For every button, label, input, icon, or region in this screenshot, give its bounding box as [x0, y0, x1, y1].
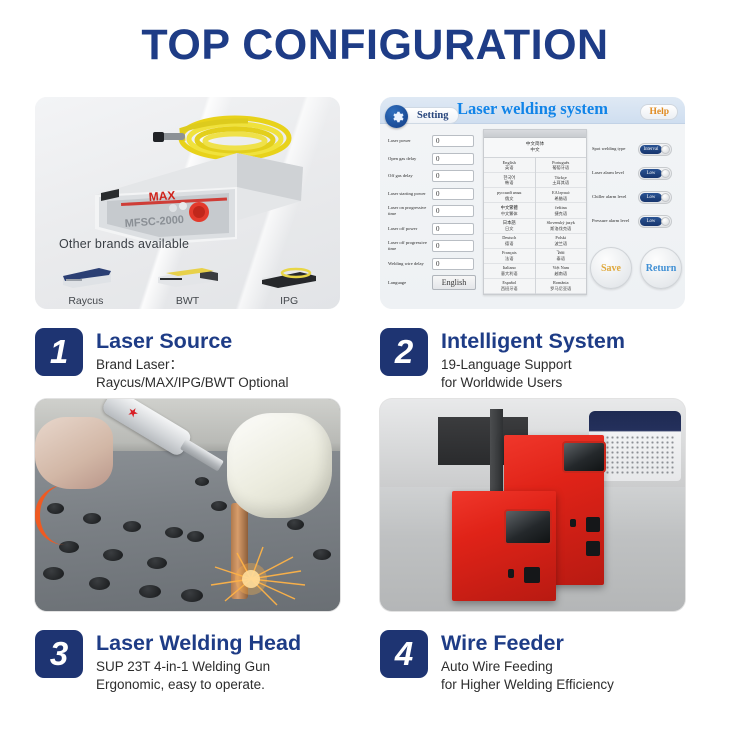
brand-item-raycus: Raycus	[35, 260, 137, 307]
cell-caption-4: 4 Wire Feeder Auto Wire Feeding for High…	[375, 611, 750, 694]
caption-intelligent-system: 2 Intelligent System 19-Language Support…	[380, 316, 720, 392]
photo-scene	[380, 399, 685, 611]
cell-intelligent-system: Laser welding system Setting Help Laser …	[375, 90, 750, 309]
language-cn: 西班牙语	[484, 286, 535, 291]
feeder-switch	[508, 569, 514, 578]
field-input[interactable]: 0	[432, 188, 474, 200]
field-input[interactable]: 0	[432, 205, 474, 217]
language-item[interactable]: Việt Nam越南语	[536, 264, 587, 279]
toggle-knob	[661, 193, 670, 202]
toggle-switch[interactable]: Low	[638, 191, 672, 204]
gear-icon[interactable]	[385, 105, 408, 128]
configuration-grid: MAX MFSC-2000 Other brands available	[0, 90, 750, 693]
toggle-switch[interactable]: Interval	[638, 143, 672, 156]
toggle-label: Laser alarm level	[592, 170, 638, 176]
toggle-label: Spot welding type	[592, 146, 638, 152]
language-cn: 韩语	[484, 180, 535, 185]
language-item[interactable]: Français法语	[484, 249, 535, 264]
field-label: Laser power	[388, 138, 432, 144]
language-cn: 泰语	[536, 256, 587, 261]
brand-label: IPG	[238, 295, 340, 307]
raycus-device-icon	[35, 260, 137, 290]
brand-item-bwt: BWT	[137, 260, 239, 307]
caption-line: Ergonomic, easy to operate.	[96, 676, 301, 694]
background-post	[490, 409, 503, 504]
field-input[interactable]: 0	[432, 223, 474, 235]
field-input[interactable]: 0	[432, 240, 474, 252]
language-select[interactable]: English	[432, 275, 476, 290]
caption-line: 19-Language Support	[441, 356, 625, 374]
field-label: Laser starting power	[388, 191, 432, 197]
feeder-screen	[562, 441, 606, 473]
help-button[interactable]: Help	[640, 104, 678, 120]
language-cn: 中文繁体	[484, 211, 535, 216]
toggle-switch[interactable]: Low	[638, 215, 672, 228]
cell-caption-1: 1 Laser Source Brand Laser： Raycus/MAX/I…	[0, 309, 375, 392]
language-grid: English英语 한국어韩语 русский язык俄文 中文繁體中文繁体 …	[484, 158, 586, 293]
field-input[interactable]: 0	[432, 258, 474, 270]
field-label: Laser off progressive time	[388, 240, 432, 251]
language-item[interactable]: ไทย泰语	[536, 249, 587, 264]
language-item[interactable]: 中文繁體中文繁体	[484, 203, 535, 218]
toggle-knob	[661, 217, 670, 226]
cell-caption-2: 2 Intelligent System 19-Language Support…	[375, 309, 750, 392]
caption-number-badge: 4	[380, 630, 428, 678]
feeder-port	[586, 517, 600, 532]
toggle-knob	[661, 145, 670, 154]
caption-line: Raycus/MAX/IPG/BWT Optional	[96, 374, 289, 392]
feeder-port	[524, 567, 540, 583]
brand-item-ipg: IPG	[238, 260, 340, 307]
language-item[interactable]: English英语	[484, 158, 535, 173]
ipg-device-icon	[238, 260, 340, 290]
caption-title: Laser Source	[96, 329, 289, 353]
save-button[interactable]: Save	[590, 247, 632, 289]
caption-number-badge: 1	[35, 328, 83, 376]
toggle-knob	[661, 169, 670, 178]
language-cn: 中文	[484, 147, 586, 153]
language-cn: 波兰语	[536, 241, 587, 246]
caption-line: Brand Laser：	[96, 356, 289, 374]
weld-sparks	[185, 527, 325, 607]
field-label: Laser on progressive time	[388, 205, 432, 216]
language-cn: 德语	[484, 241, 535, 246]
language-cn: 意大利语	[484, 271, 535, 276]
cell-caption-3: 3 Laser Welding Head SUP 23T 4-in-1 Weld…	[0, 611, 375, 694]
caption-line: Auto Wire Feeding	[441, 658, 614, 676]
language-item[interactable]: čeština捷克语	[536, 203, 587, 218]
language-column-left: English英语 한국어韩语 русский язык俄文 中文繁體中文繁体 …	[484, 158, 536, 293]
laser-welding-head-photo	[35, 399, 340, 611]
svg-text:MAX: MAX	[148, 188, 176, 204]
field-label: Welding wire delay	[388, 261, 432, 267]
language-column-right: Português葡萄牙语 Türkçe土耳其语 ΕΛληνικά希腊语 češ…	[536, 158, 587, 293]
field-row: Welding wire delay 0	[388, 256, 482, 272]
field-input[interactable]: 0	[432, 135, 474, 147]
caption-wire-feeder: 4 Wire Feeder Auto Wire Feeding for High…	[380, 618, 720, 694]
wire-feeder-photo	[380, 399, 685, 611]
feeder-switch	[570, 519, 576, 527]
return-button[interactable]: Return	[640, 247, 682, 289]
brand-list: Raycus BWT	[35, 260, 340, 307]
language-item[interactable]: România罗马尼亚语	[536, 279, 587, 294]
field-row: Laser starting power 0	[388, 186, 482, 202]
language-table-header	[484, 130, 586, 138]
caption-text: Laser Welding Head SUP 23T 4-in-1 Weldin…	[83, 630, 301, 694]
caption-number-badge: 3	[35, 630, 83, 678]
hmi-screen: Laser welding system Setting Help Laser …	[380, 97, 685, 309]
caption-row-1: 1 Laser Source Brand Laser： Raycus/MAX/I…	[0, 309, 750, 392]
field-row: Open gas delay 0	[388, 151, 482, 167]
language-label: Language	[388, 280, 432, 286]
chiller-mesh	[595, 435, 675, 475]
caption-text: Laser Source Brand Laser： Raycus/MAX/IPG…	[83, 328, 289, 392]
field-row: Off gas delay 0	[388, 168, 482, 184]
language-item[interactable]: Polski波兰语	[536, 234, 587, 249]
toggle-switch[interactable]: Low	[638, 167, 672, 180]
feeder-screen	[504, 509, 552, 545]
language-cn: 葡萄牙语	[536, 165, 587, 170]
language-item[interactable]: Slovenský jazyk斯洛伐克语	[536, 219, 587, 234]
cell-welding-head	[0, 392, 375, 611]
field-input[interactable]: 0	[432, 170, 474, 182]
toggle-row: Chiller alarm level Low	[592, 185, 680, 209]
language-item[interactable]: ΕΛληνικά希腊语	[536, 188, 587, 203]
laser-source-device: MAX MFSC-2000	[87, 149, 305, 249]
language-cn: 捷克语	[536, 211, 587, 216]
caption-row-2: 3 Laser Welding Head SUP 23T 4-in-1 Weld…	[0, 611, 750, 694]
toggle-row: Laser alarm level Low	[592, 161, 680, 185]
settings-fields: Laser power 0 Open gas delay 0 Off gas d…	[388, 133, 482, 291]
toggle-value: Interval	[640, 145, 662, 154]
other-brands-label: Other brands available	[59, 237, 189, 251]
field-row: Laser off progressive time 0	[388, 238, 482, 254]
language-item[interactable]: Português葡萄牙语	[536, 158, 587, 173]
caption-number-badge: 2	[380, 328, 428, 376]
language-cn: 希腊语	[536, 196, 587, 201]
toggle-row: Spot welding type Interval	[592, 137, 680, 161]
language-cn: 日文	[484, 226, 535, 231]
toggle-label: Pressure alarm level	[592, 218, 638, 224]
language-item[interactable]: Español西班牙语	[484, 279, 535, 294]
language-selected-item[interactable]: 中文简体 中文	[484, 138, 586, 158]
caption-welding-head: 3 Laser Welding Head SUP 23T 4-in-1 Weld…	[35, 618, 340, 694]
hmi-action-buttons: Save Return	[590, 247, 682, 289]
toggle-value: Low	[640, 169, 662, 178]
gloved-hand	[227, 413, 332, 518]
language-item[interactable]: Türkçe土耳其语	[536, 173, 587, 188]
caption-text: Wire Feeder Auto Wire Feeding for Higher…	[428, 630, 614, 694]
field-label: Off gas delay	[388, 173, 432, 179]
brand-label: BWT	[137, 295, 239, 307]
caption-title: Wire Feeder	[441, 631, 614, 655]
photo-scene	[35, 399, 340, 611]
caption-line: SUP 23T 4-in-1 Welding Gun	[96, 658, 301, 676]
brand-label: Raycus	[35, 295, 137, 307]
field-row: Laser power 0	[388, 133, 482, 149]
caption-title: Laser Welding Head	[96, 631, 301, 655]
language-item[interactable]: 한국어韩语	[484, 173, 535, 188]
caption-title: Intelligent System	[441, 329, 625, 353]
caption-line: for Worldwide Users	[441, 374, 625, 392]
language-cn: 英语	[484, 165, 535, 170]
grid-row-2	[0, 392, 750, 611]
feeder-port	[586, 541, 600, 556]
language-item[interactable]: Deutsch德语	[484, 234, 535, 249]
laser-source-panel: MAX MFSC-2000 Other brands available	[35, 97, 340, 309]
page-title: TOP CONFIGURATION	[0, 0, 750, 67]
language-cn: 土耳其语	[536, 180, 587, 185]
language-row: Language English	[388, 275, 482, 291]
caption-laser-source: 1 Laser Source Brand Laser： Raycus/MAX/I…	[35, 316, 340, 392]
bwt-device-icon	[137, 260, 239, 290]
language-item[interactable]: 日本語日文	[484, 219, 535, 234]
language-cn: 越南语	[536, 271, 587, 276]
language-cn: 罗马尼亚语	[536, 286, 587, 291]
language-item[interactable]: русский язык俄文	[484, 188, 535, 203]
cell-laser-source: MAX MFSC-2000 Other brands available	[0, 90, 375, 309]
toggle-row: Pressure alarm level Low	[592, 209, 680, 233]
cell-wire-feeder	[375, 392, 750, 611]
toggle-label: Chiller alarm level	[592, 194, 638, 200]
wire-feeder-short	[452, 491, 556, 601]
language-item[interactable]: Italiano意大利语	[484, 264, 535, 279]
caption-line: for Higher Welding Efficiency	[441, 676, 614, 694]
toggle-value: Low	[640, 193, 662, 202]
field-label: Laser off power	[388, 226, 432, 232]
toggle-list: Spot welding type Interval Laser alarm l…	[592, 137, 680, 233]
intelligent-system-panel: Laser welding system Setting Help Laser …	[380, 97, 685, 309]
toggle-value: Low	[640, 217, 662, 226]
page-root: TOP CONFIGURATION	[0, 0, 750, 734]
language-cn: 斯洛伐克语	[536, 226, 587, 231]
field-input[interactable]: 0	[432, 153, 474, 165]
language-table[interactable]: 中文简体 中文 English英语 한국어韩语 русский язык俄文 中…	[483, 129, 587, 295]
field-row: Laser on progressive time 0	[388, 203, 482, 219]
grid-row-1: MAX MFSC-2000 Other brands available	[0, 90, 750, 309]
field-row: Laser off power 0	[388, 221, 482, 237]
field-label: Open gas delay	[388, 156, 432, 162]
language-cn: 法语	[484, 256, 535, 261]
language-cn: 俄文	[484, 196, 535, 201]
caption-text: Intelligent System 19-Language Support f…	[428, 328, 625, 392]
